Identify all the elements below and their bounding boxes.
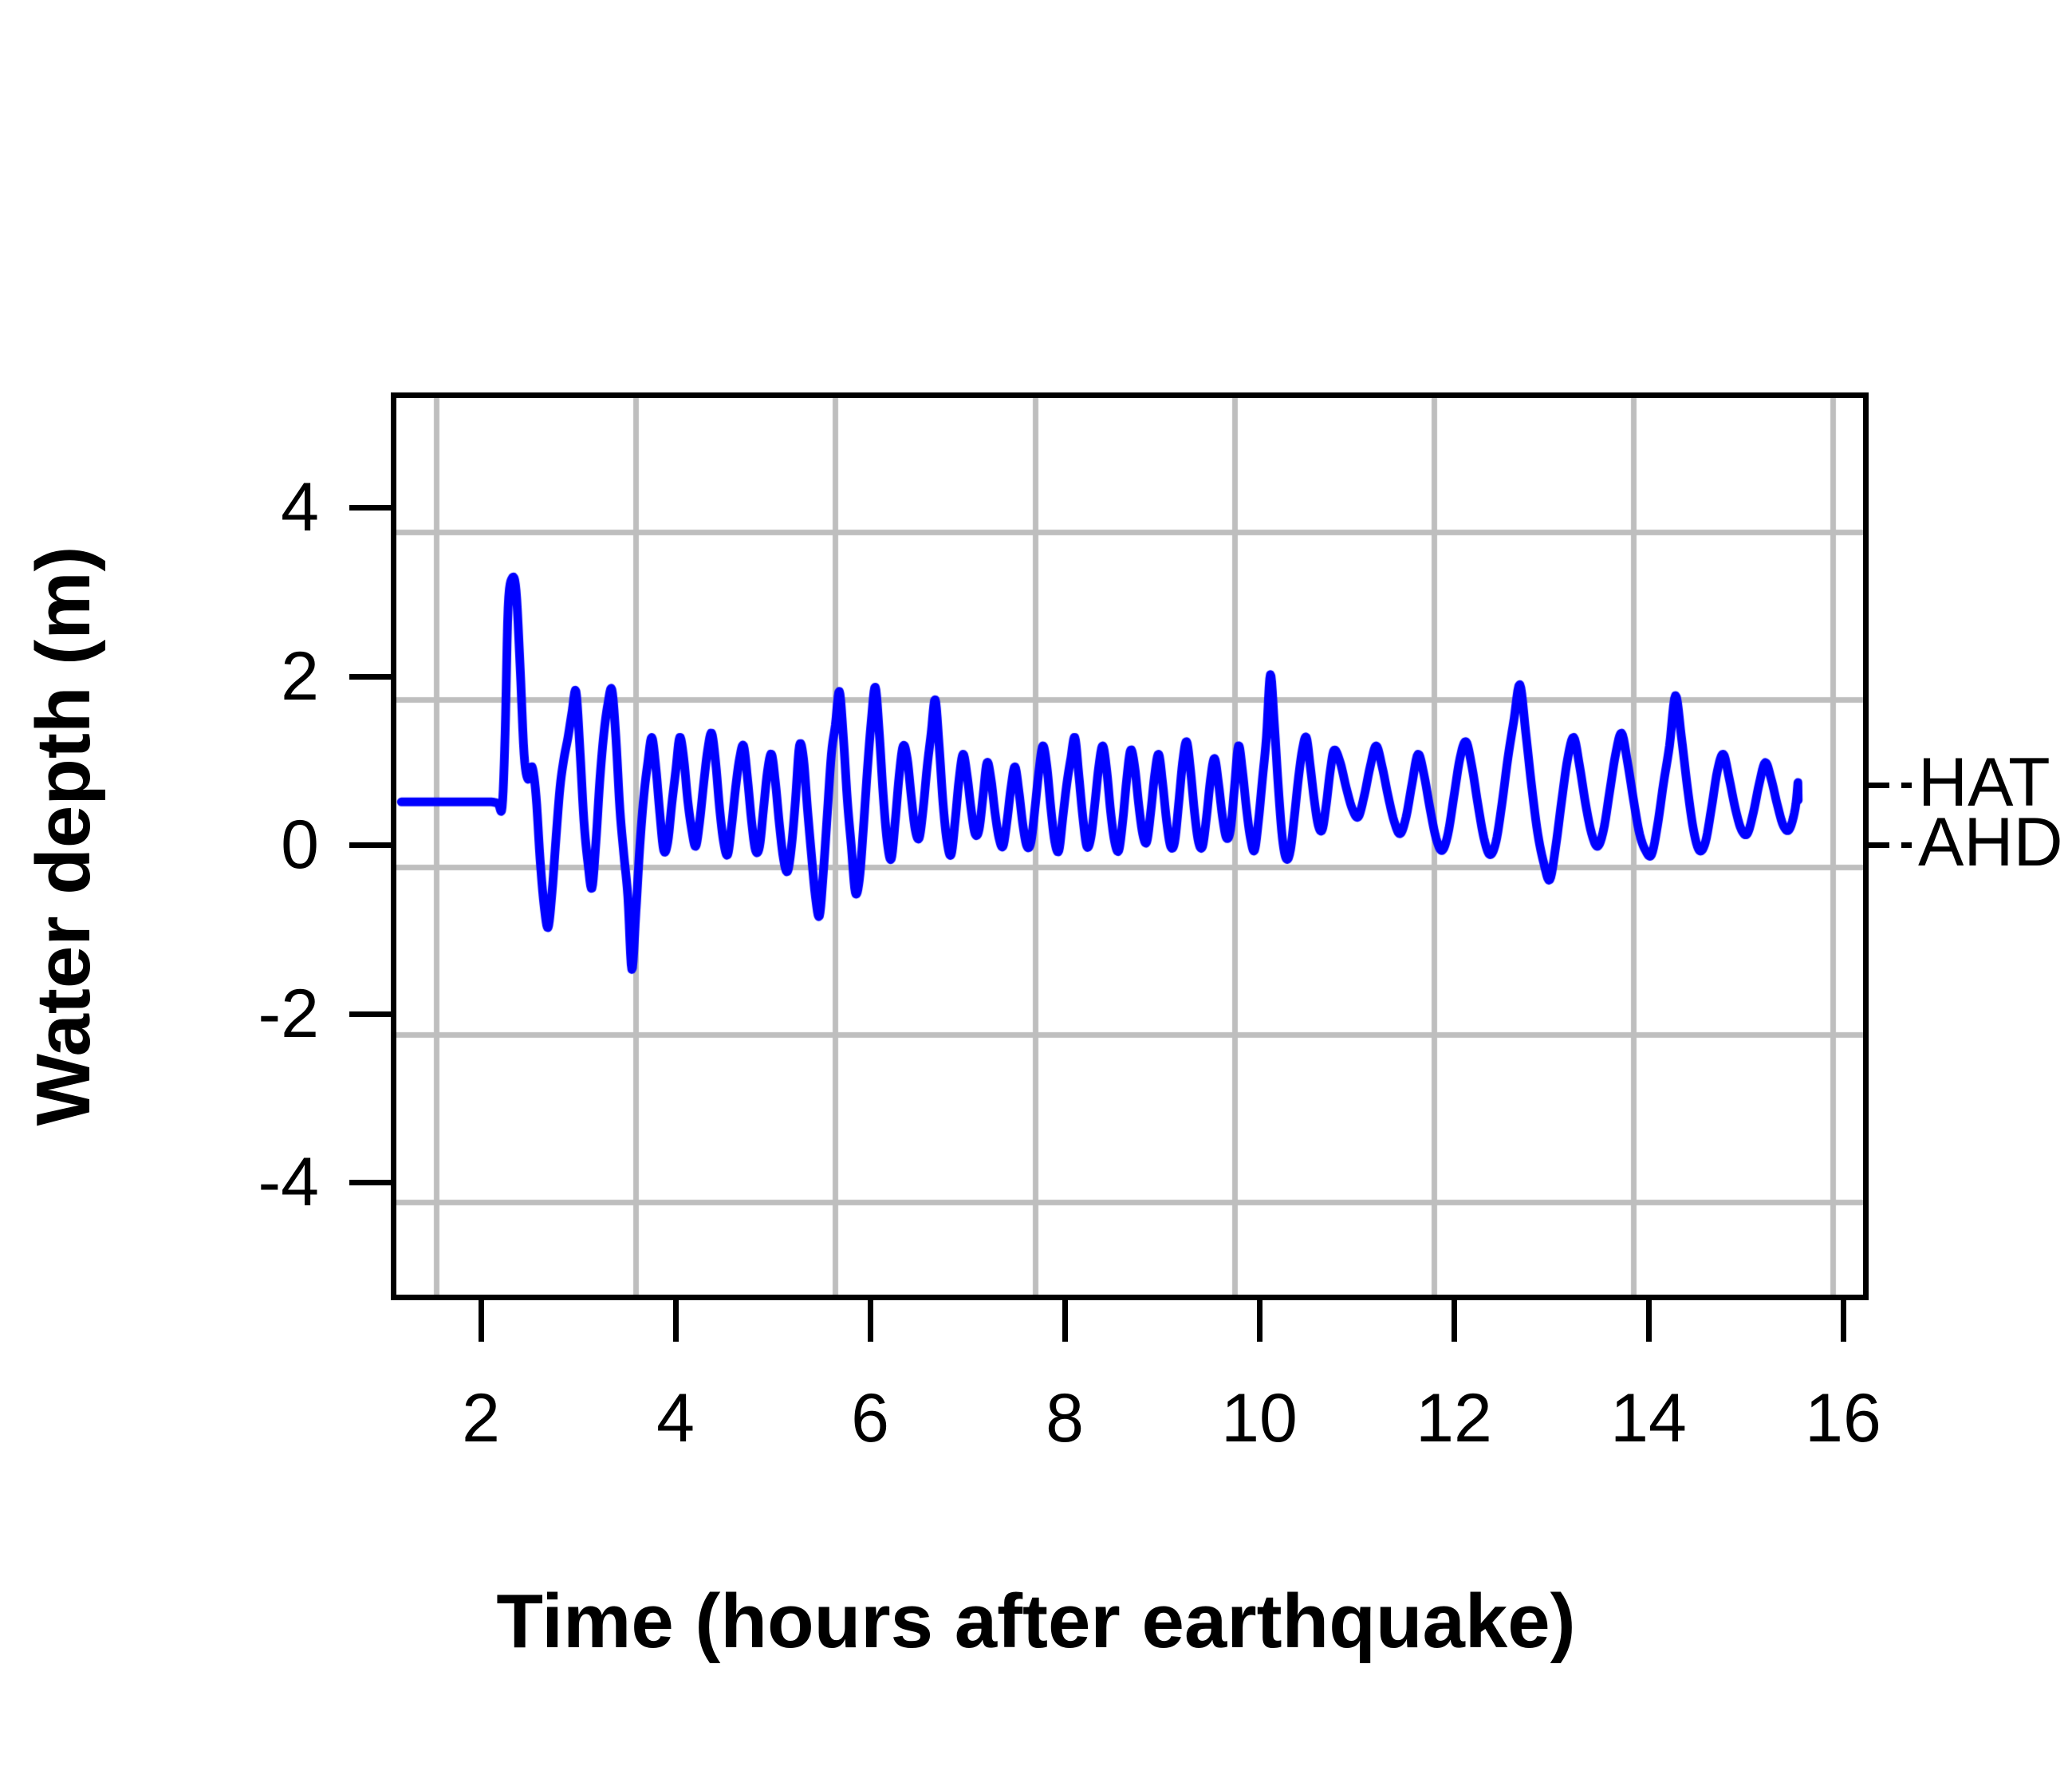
x-tick-label-2: 2 <box>385 1384 577 1453</box>
ahd-label: AHD <box>1918 808 2063 877</box>
x-tick-mark-14 <box>1646 1300 1652 1342</box>
x-tick-mark-2 <box>479 1300 484 1342</box>
hat-tick-mark <box>1869 783 1889 788</box>
x-tick-mark-4 <box>673 1300 679 1342</box>
x-tick-label-8: 8 <box>969 1384 1160 1453</box>
plot-area <box>391 392 1869 1300</box>
x-tick-mark-12 <box>1452 1300 1457 1342</box>
x-tick-mark-16 <box>1841 1300 1846 1342</box>
y-tick-label-neg2: -2 <box>128 980 319 1048</box>
ahd-dash-mark <box>1901 842 1912 848</box>
x-tick-mark-6 <box>868 1300 873 1342</box>
x-tick-label-10: 10 <box>1164 1384 1355 1453</box>
x-tick-label-12: 12 <box>1358 1384 1550 1453</box>
y-tick-label-4: 4 <box>160 473 319 542</box>
y-tick-label-0: 0 <box>160 810 319 879</box>
x-tick-label-16: 16 <box>1747 1384 1939 1453</box>
y-tick-label-neg4: -4 <box>128 1148 319 1216</box>
x-tick-mark-8 <box>1062 1300 1068 1342</box>
x-tick-label-6: 6 <box>774 1384 966 1453</box>
ahd-tick-mark <box>1869 842 1889 848</box>
y-tick-label-2: 2 <box>160 642 319 711</box>
tsunami-water-depth-chart: 4 2 0 -2 -4 2 4 6 8 10 12 14 16 HAT AHD … <box>0 0 2072 1790</box>
water-depth-series-line <box>396 398 1863 1295</box>
y-axis-title: Water depth (m) <box>26 437 102 1235</box>
y-tick-mark-2 <box>349 674 391 680</box>
y-tick-mark-neg2 <box>349 1011 391 1017</box>
x-axis-title: Time (hours after earthquake) <box>0 1583 2072 1660</box>
y-tick-mark-neg4 <box>349 1180 391 1185</box>
y-tick-mark-0 <box>349 842 391 848</box>
hat-dash-mark <box>1901 783 1912 788</box>
x-tick-label-14: 14 <box>1553 1384 1744 1453</box>
x-tick-label-4: 4 <box>580 1384 771 1453</box>
y-tick-mark-4 <box>349 505 391 511</box>
x-tick-mark-10 <box>1257 1300 1263 1342</box>
